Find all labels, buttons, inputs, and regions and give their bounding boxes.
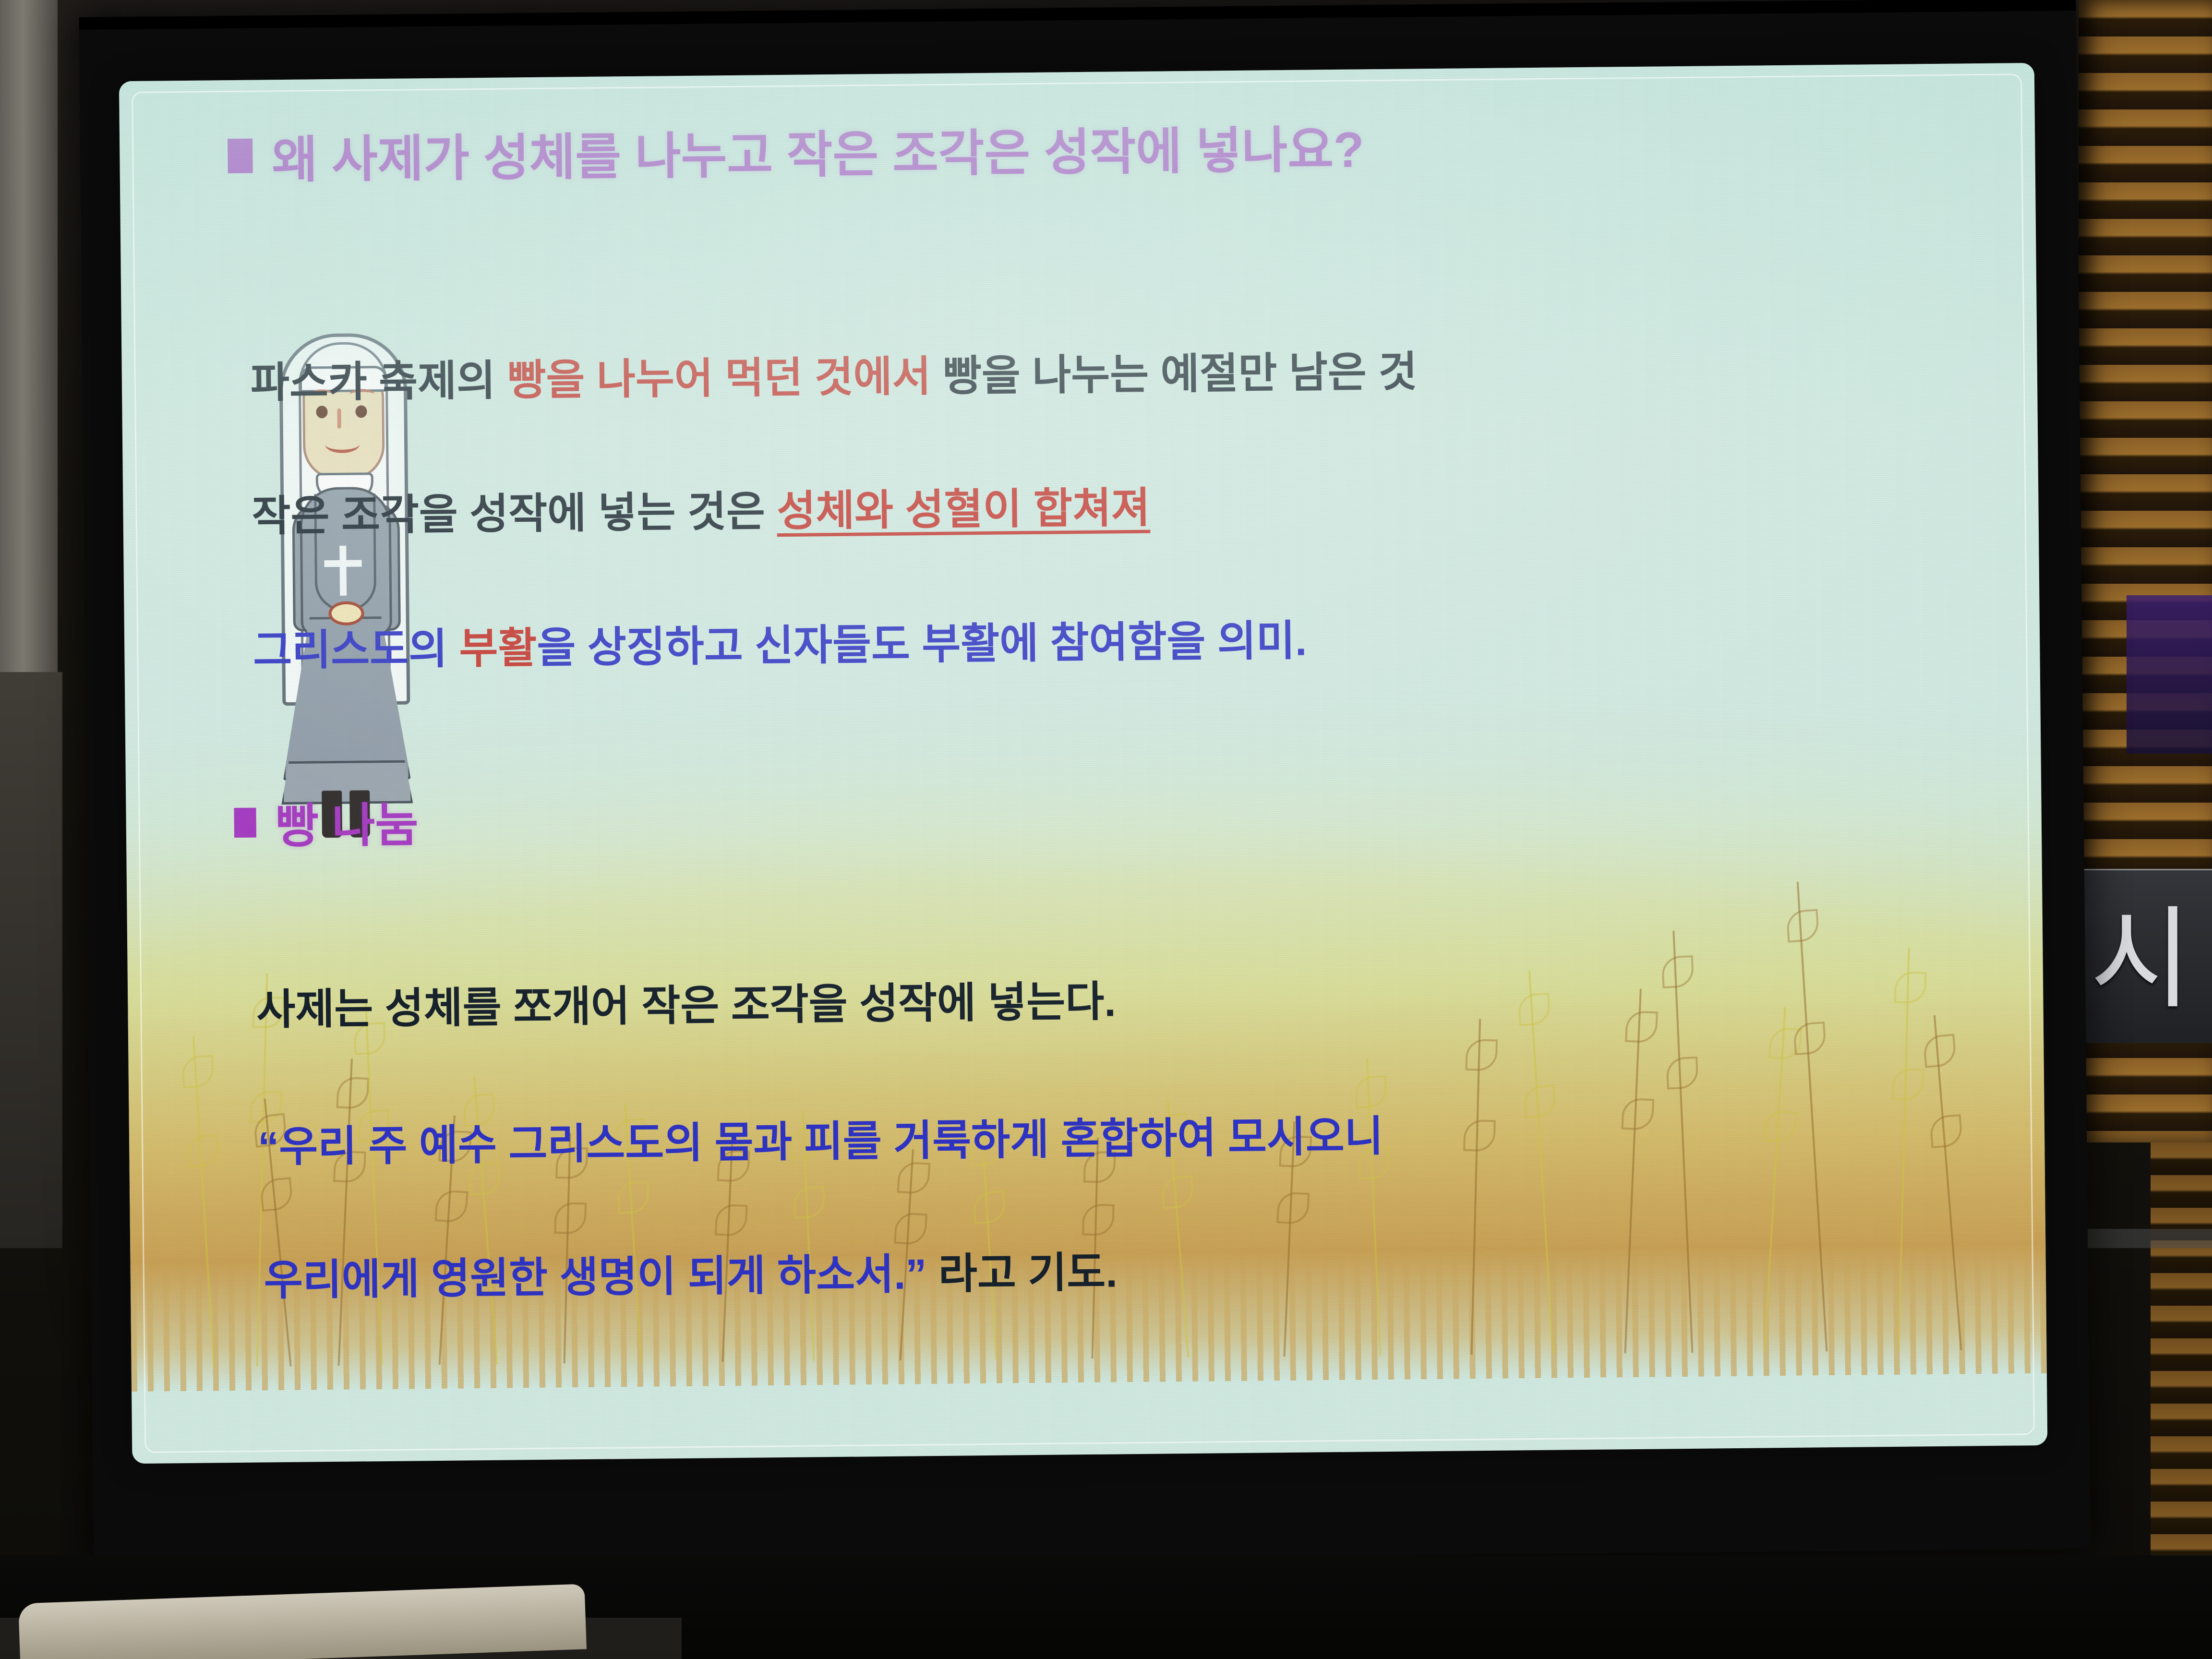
- segment-text: 빵을 나누는 예절만 남은 것: [931, 348, 1418, 400]
- left-wall-panel: [0, 0, 58, 672]
- section2-heading: 빵 나눔: [234, 787, 419, 857]
- segment-text-emphasis: 부활: [459, 624, 537, 673]
- wall-sign: 시ㄴ: [2083, 869, 2212, 1043]
- projection-screen-frame: 왜 사제가 성체를 나누고 작은 조각은 성작에 넣나요? 파스카 축제의 빵을…: [79, 0, 2091, 1568]
- slide-content: 왜 사제가 성체를 나누고 작은 조각은 성작에 넣나요? 파스카 축제의 빵을…: [119, 63, 2047, 1464]
- section1-heading-text: 왜 사제가 성체를 나누고 작은 조각은 성작에 넣나요?: [272, 108, 1364, 192]
- section1-line-2: 작은 조각을 성작에 넣는 것은 성체와 성혈이 합쳐져: [252, 474, 1150, 543]
- segment-text: 그리스도의: [253, 625, 459, 674]
- segment-text: 을 상징하고 신자들도 부활에 참여함을 의미.: [537, 617, 1307, 672]
- wall-sign-text: 시ㄴ: [2090, 905, 2212, 1015]
- left-wall-lower-panel: [0, 672, 62, 1248]
- segment-text: 우리에게 영원한 생명이 되게 하소서.”: [264, 1250, 927, 1304]
- segment-text: “우리 주 예수 그리스도의 몸과 피를 거룩하게 혼합하여 모시오니: [258, 1112, 1383, 1171]
- segment-text: 파스카 축제의: [250, 357, 507, 407]
- screenshot-stage: 시ㄴ: [0, 0, 2212, 1659]
- background-monitor-glow: [2127, 595, 2212, 754]
- square-bullet-icon: [228, 138, 253, 173]
- segment-text: 라고 기도.: [926, 1248, 1118, 1298]
- segment-text: 작은 조각을 성작에 넣는 것은: [252, 487, 777, 540]
- section2-line-1: 사제는 성체를 쪼개어 작은 조각을 성작에 넣는다.: [256, 967, 1116, 1036]
- section1-line-1: 파스카 축제의 빵을 나누어 먹던 것에서 빵을 나누는 예절만 남은 것: [250, 337, 1418, 409]
- section1-heading: 왜 사제가 성체를 나누고 작은 조각은 성작에 넣나요?: [228, 108, 1364, 192]
- section2-heading-text: 빵 나눔: [275, 787, 419, 856]
- segment-text-emphasis: 빵을 나누어 먹던 것에서: [507, 352, 931, 404]
- section2-line-2: “우리 주 예수 그리스도의 몸과 피를 거룩하게 혼합하여 모시오니: [258, 1102, 1384, 1174]
- section2-line-3: 우리에게 영원한 생명이 되게 하소서.” 라고 기도.: [264, 1238, 1118, 1307]
- segment-text: 사제는 성체를 쪼개어 작은 조각을 성작에 넣는다.: [256, 977, 1116, 1033]
- presentation-slide: 왜 사제가 성체를 나누고 작은 조각은 성작에 넣나요? 파스카 축제의 빵을…: [119, 63, 2047, 1464]
- segment-text-emphasis-underline: 성체와 성혈이 합쳐져: [777, 484, 1150, 535]
- section1-line-3: 그리스도의 부활을 상징하고 신자들도 부활에 참여함을 의미.: [253, 607, 1307, 678]
- square-bullet-icon: [234, 808, 256, 838]
